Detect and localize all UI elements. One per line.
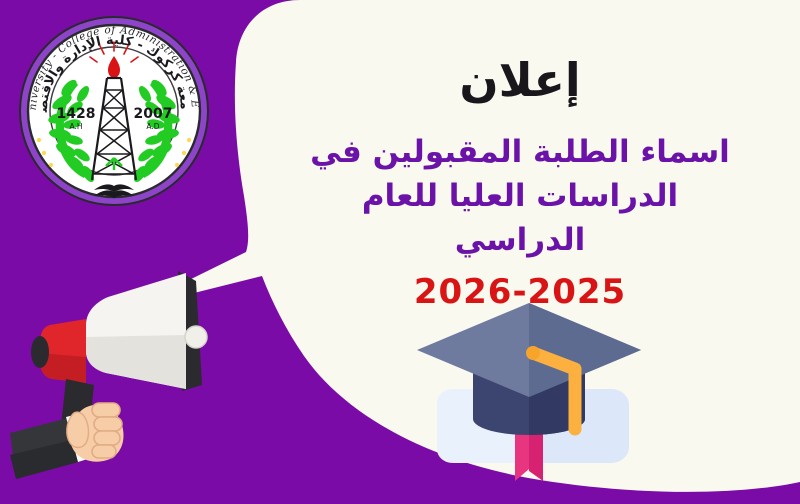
hand-thumb xyxy=(67,412,89,447)
seal-year-hijri-label: A.H xyxy=(69,122,82,131)
announcement-subtitle-line1: اسماء الطلبة المقبولين في xyxy=(305,130,735,174)
megaphone-horn-shade xyxy=(86,335,186,389)
announcement-text-block: إعلان اسماء الطلبة المقبولين في الدراسات… xyxy=(250,30,790,300)
megaphone-back-cap xyxy=(31,336,49,368)
announcement-subtitle-line2: الدراسات العليا للعام الدراسي xyxy=(305,174,735,262)
seal-year-hijri: 1428 xyxy=(57,106,96,122)
page-title: إعلان xyxy=(459,56,580,104)
graduation-cap-illustration xyxy=(415,295,665,500)
seal-year-gregorian: 2007 xyxy=(134,106,173,122)
announcement-subtitle: اسماء الطلبة المقبولين في الدراسات العلي… xyxy=(305,130,735,262)
megaphone-illustration xyxy=(10,265,260,500)
seal-year-gregorian-label: A.D xyxy=(146,122,159,131)
tassel-button xyxy=(526,346,540,360)
university-seal: Kirkuk University - College of Administr… xyxy=(14,8,214,214)
poster-canvas: Kirkuk University - College of Administr… xyxy=(0,0,800,500)
